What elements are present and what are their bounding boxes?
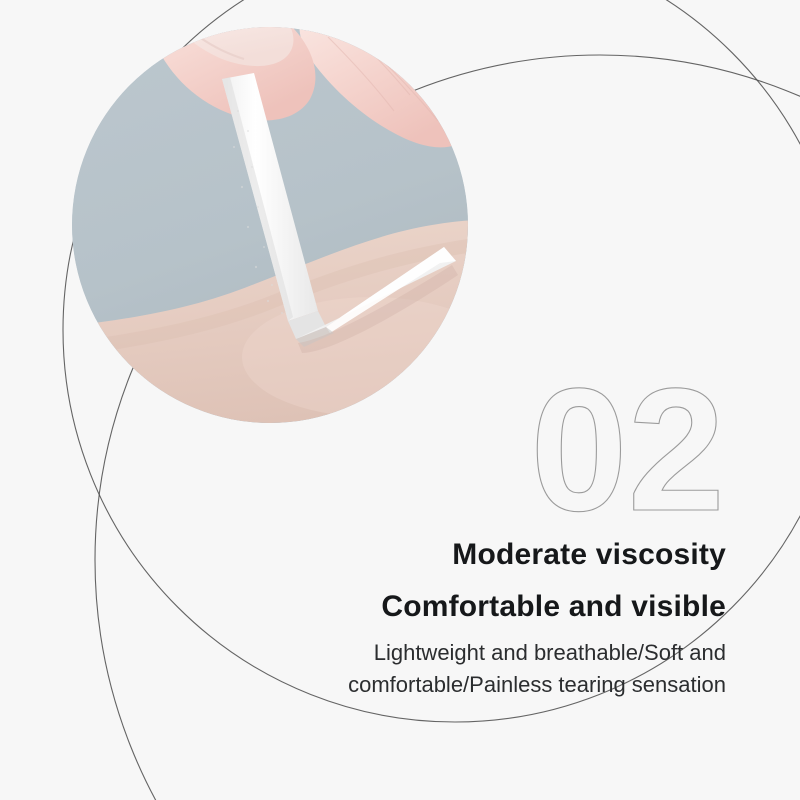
feature-number-wrap: 02 [256, 360, 726, 540]
feature-number-text: 02 [530, 360, 725, 540]
feature-number-02-outline: 02 [496, 360, 726, 540]
feature-description: Lightweight and breathable/Soft and comf… [256, 637, 726, 701]
feature-banner: 02 Moderate viscosity Comfortable and vi… [0, 0, 800, 800]
feature-headline-secondary: Comfortable and visible [256, 588, 726, 626]
feature-headline-primary: Moderate viscosity [256, 536, 726, 574]
feature-text-block: 02 Moderate viscosity Comfortable and vi… [256, 360, 726, 701]
